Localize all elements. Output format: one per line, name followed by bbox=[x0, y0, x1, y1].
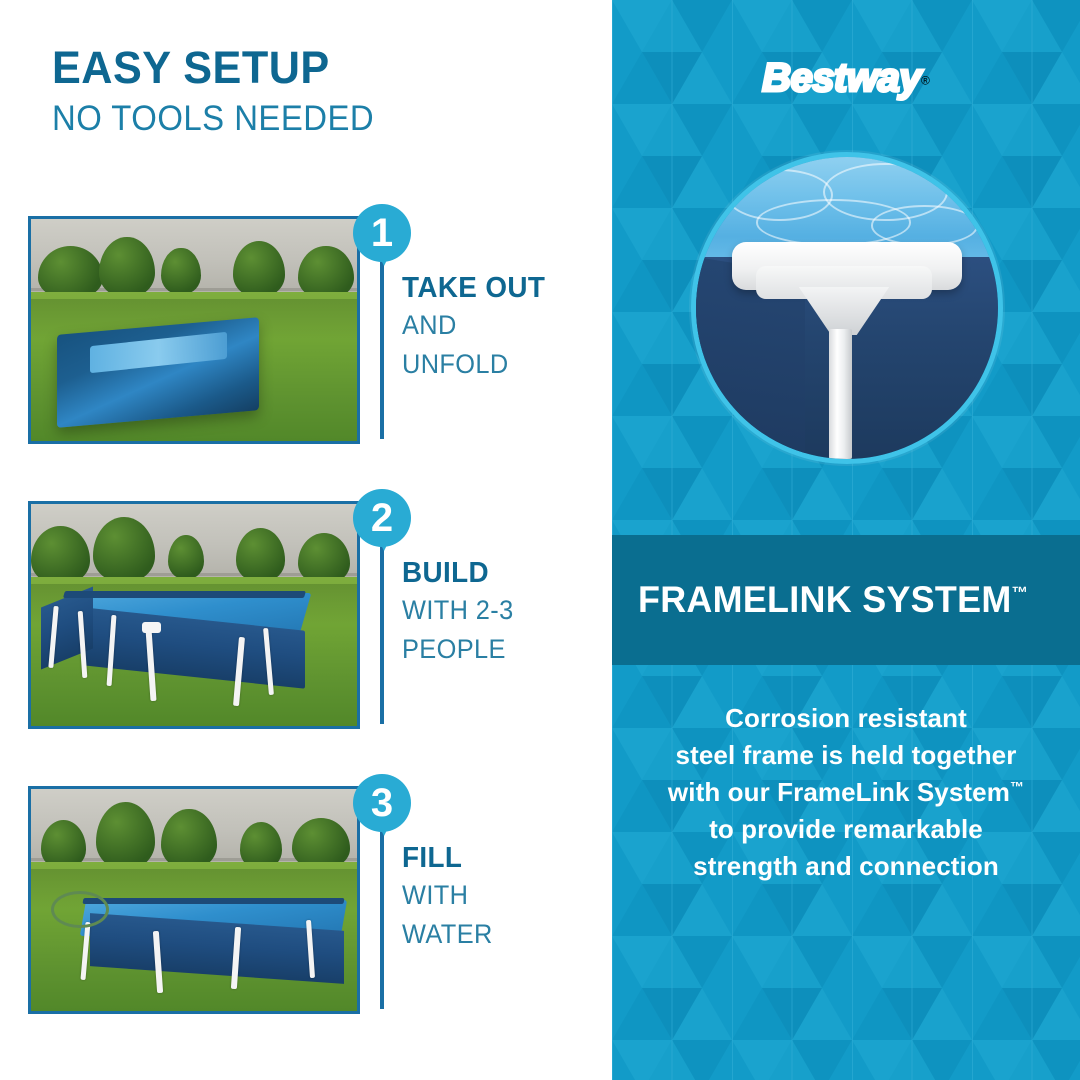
right-panel-framelink: Bestway® FRAMELINK SYSTEM™ Corrosion res… bbox=[612, 0, 1080, 1080]
step-3-number-badge: 3 bbox=[353, 774, 411, 832]
step-1-title: TAKE OUT bbox=[402, 272, 594, 304]
garden-hose bbox=[51, 891, 109, 928]
step-2-divider bbox=[380, 539, 384, 724]
framelink-title-band: FRAMELINK SYSTEM™ bbox=[612, 535, 1080, 665]
framelink-description: Corrosion resistant steel frame is held … bbox=[612, 700, 1080, 885]
step-3-detail-line1: WITH bbox=[402, 878, 590, 913]
bush-icon bbox=[96, 802, 155, 869]
infographic-page: EASY SETUP NO TOOLS NEEDED bbox=[0, 0, 1080, 1080]
bestway-logo-text: Bestway bbox=[762, 56, 921, 101]
description-line-3-text: with our FrameLink System bbox=[668, 777, 1010, 807]
step-1-detail-line2: UNFOLD bbox=[402, 347, 590, 382]
water-ripple bbox=[871, 205, 978, 245]
description-line-1: Corrosion resistant bbox=[612, 700, 1080, 737]
step-2-photo bbox=[28, 501, 360, 729]
description-line-2: steel frame is held together bbox=[612, 737, 1080, 774]
left-panel-setup-steps: EASY SETUP NO TOOLS NEEDED bbox=[0, 0, 612, 1080]
description-line-4: to provide remarkable bbox=[612, 811, 1080, 848]
page-title-block: EASY SETUP NO TOOLS NEEDED bbox=[52, 44, 395, 140]
framelink-leg-pole bbox=[829, 329, 852, 459]
step-3-title: FILL bbox=[402, 842, 594, 874]
step-2-number-badge: 2 bbox=[353, 489, 411, 547]
step-1-photo bbox=[28, 216, 360, 444]
step-2-detail-line2: PEOPLE bbox=[402, 632, 590, 667]
setup-step-3: 3 FILL WITH WATER bbox=[28, 780, 588, 1020]
step-3-photo bbox=[28, 786, 360, 1014]
description-line-5: strength and connection bbox=[612, 848, 1080, 885]
framelink-title: FRAMELINK SYSTEM bbox=[638, 579, 1012, 620]
bush-icon bbox=[31, 526, 90, 584]
framelink-product-photo bbox=[691, 152, 1003, 464]
corner-joint bbox=[142, 622, 162, 633]
description-line-3: with our FrameLink System™ bbox=[612, 774, 1080, 811]
step-2-text: BUILD WITH 2-3 PEOPLE bbox=[402, 557, 602, 667]
setup-step-2: 2 BUILD WITH 2-3 PEOPLE bbox=[28, 495, 588, 735]
step-1-divider bbox=[380, 254, 384, 439]
page-subtitle: NO TOOLS NEEDED bbox=[52, 99, 374, 139]
step-2-title: BUILD bbox=[402, 557, 594, 589]
pool-liner bbox=[57, 317, 259, 428]
step-3-text: FILL WITH WATER bbox=[402, 842, 602, 952]
step-3-detail-line2: WATER bbox=[402, 917, 590, 952]
trademark-mark-icon: ™ bbox=[1010, 778, 1024, 794]
step-2-detail-line1: WITH 2-3 bbox=[402, 593, 590, 628]
bestway-logo: Bestway® bbox=[612, 56, 1080, 101]
bush-icon bbox=[93, 517, 155, 581]
bush-icon bbox=[161, 248, 200, 295]
step-1-number-badge: 1 bbox=[353, 204, 411, 262]
pool-rail bbox=[83, 898, 345, 904]
step-1-text: TAKE OUT AND UNFOLD bbox=[402, 272, 602, 382]
setup-step-1: 1 TAKE OUT AND UNFOLD bbox=[28, 210, 588, 450]
bush-icon bbox=[168, 535, 204, 579]
page-title: EASY SETUP bbox=[52, 44, 381, 91]
trademark-mark-icon: ™ bbox=[1012, 584, 1029, 603]
registered-mark-icon: ® bbox=[921, 74, 930, 88]
step-3-divider bbox=[380, 824, 384, 1009]
framelink-title-row: FRAMELINK SYSTEM™ bbox=[638, 579, 1028, 621]
step-1-detail-line1: AND bbox=[402, 308, 590, 343]
pool-rail bbox=[63, 591, 306, 598]
